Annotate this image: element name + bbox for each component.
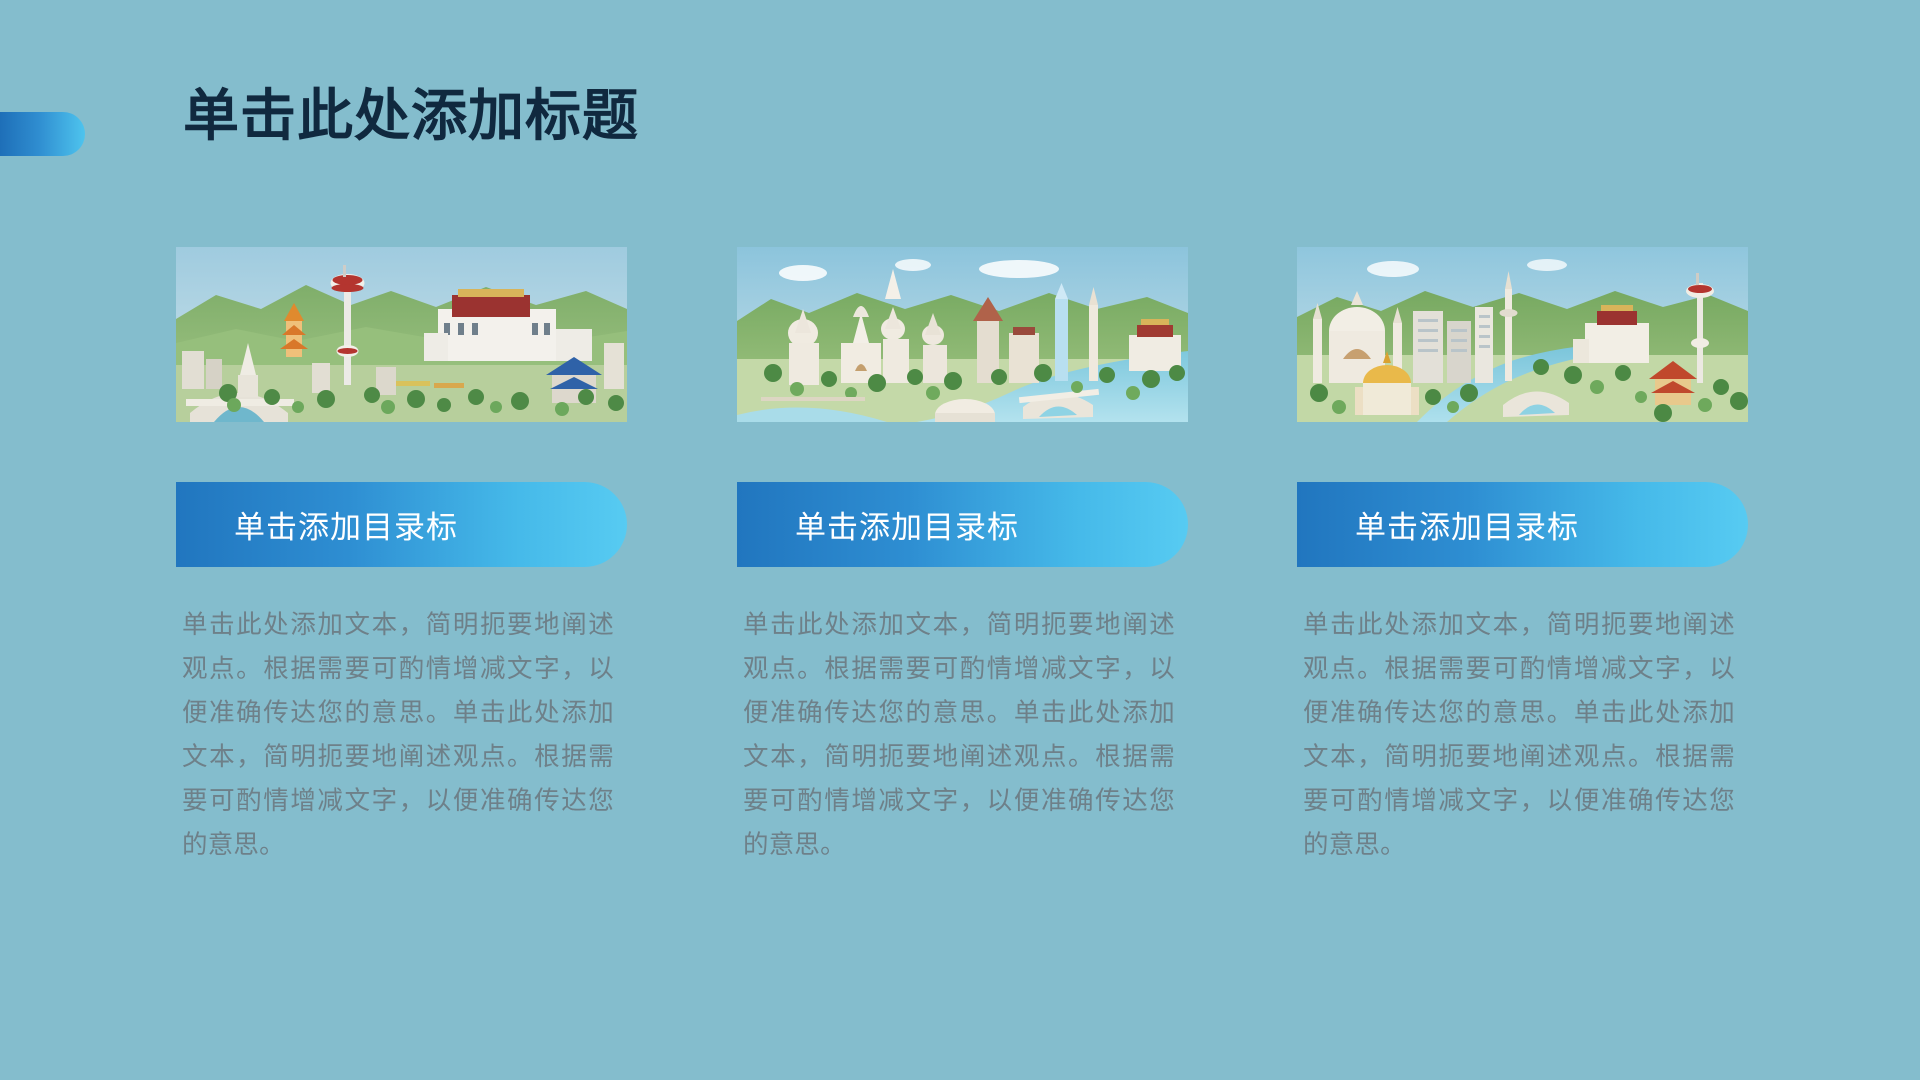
directory-button-3[interactable]: 单击添加目录标 [1297, 482, 1748, 567]
directory-button-1[interactable]: 单击添加目录标 [176, 482, 627, 567]
content-column: 单击添加目录标 单击此处添加文本，简明扼要地阐述观点。根据需要可酌情增减文字，以… [737, 247, 1188, 422]
thumbnail-image-2[interactable] [737, 247, 1188, 422]
content-columns: 单击添加目录标 单击此处添加文本，简明扼要地阐述观点。根据需要可酌情增减文字，以… [0, 0, 1920, 1080]
thumbnail-image-1[interactable] [176, 247, 627, 422]
content-column: 单击添加目录标 单击此处添加文本，简明扼要地阐述观点。根据需要可酌情增减文字，以… [176, 247, 627, 422]
directory-button-label: 单击添加目录标 [234, 502, 458, 547]
body-text-1[interactable]: 单击此处添加文本，简明扼要地阐述观点。根据需要可酌情增减文字，以便准确传达您的意… [182, 603, 614, 867]
diorama-illustration-icon [1297, 247, 1748, 422]
directory-button-label: 单击添加目录标 [1355, 502, 1579, 547]
diorama-illustration-icon [737, 247, 1188, 422]
thumbnail-image-3[interactable] [1297, 247, 1748, 422]
directory-button-2[interactable]: 单击添加目录标 [737, 482, 1188, 567]
body-text-3[interactable]: 单击此处添加文本，简明扼要地阐述观点。根据需要可酌情增减文字，以便准确传达您的意… [1303, 603, 1735, 867]
body-text-2[interactable]: 单击此处添加文本，简明扼要地阐述观点。根据需要可酌情增减文字，以便准确传达您的意… [743, 603, 1175, 867]
directory-button-label: 单击添加目录标 [795, 502, 1019, 547]
diorama-illustration-icon [176, 247, 627, 422]
content-column: 单击添加目录标 单击此处添加文本，简明扼要地阐述观点。根据需要可酌情增减文字，以… [1297, 247, 1748, 422]
